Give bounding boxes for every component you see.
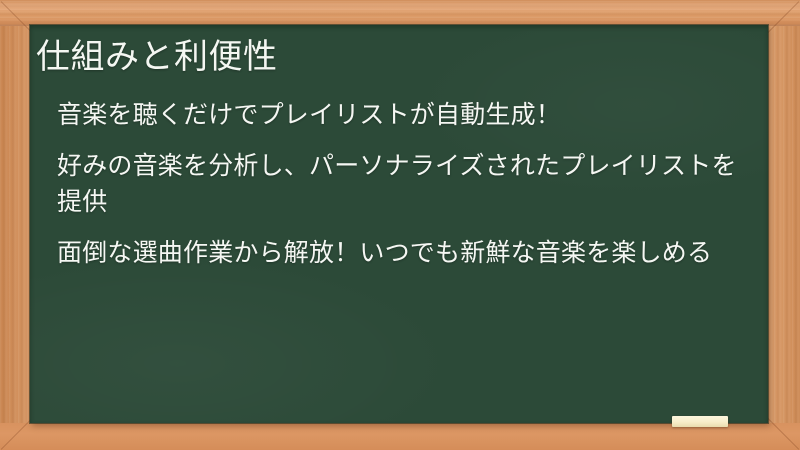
- slide-title: 仕組みと利便性: [36, 37, 748, 78]
- bullet-item: 音楽を聴くだけでプレイリストが自動生成！: [57, 97, 746, 134]
- slide-content: 仕組みと利便性 音楽を聴くだけでプレイリストが自動生成！ 好みの音楽を分析し、パ…: [30, 25, 768, 423]
- frame-top-rail: [0, 0, 800, 26]
- bullet-item: 好みの音楽を分析し、パーソナライズされたプレイリストを提供: [57, 148, 746, 221]
- bullet-item: 面倒な選曲作業から解放！いつでも新鮮な音楽を楽しめる: [57, 235, 746, 272]
- chalk-ledge: [0, 423, 800, 450]
- chalkboard-surface: 仕組みと利便性 音楽を聴くだけでプレイリストが自動生成！ 好みの音楽を分析し、パ…: [30, 25, 768, 423]
- chalk-stick-icon: [672, 416, 728, 427]
- bullet-list: 音楽を聴くだけでプレイリストが自動生成！ 好みの音楽を分析し、パーソナライズされ…: [57, 97, 746, 285]
- chalkboard-slide: 仕組みと利便性 音楽を聴くだけでプレイリストが自動生成！ 好みの音楽を分析し、パ…: [0, 0, 800, 450]
